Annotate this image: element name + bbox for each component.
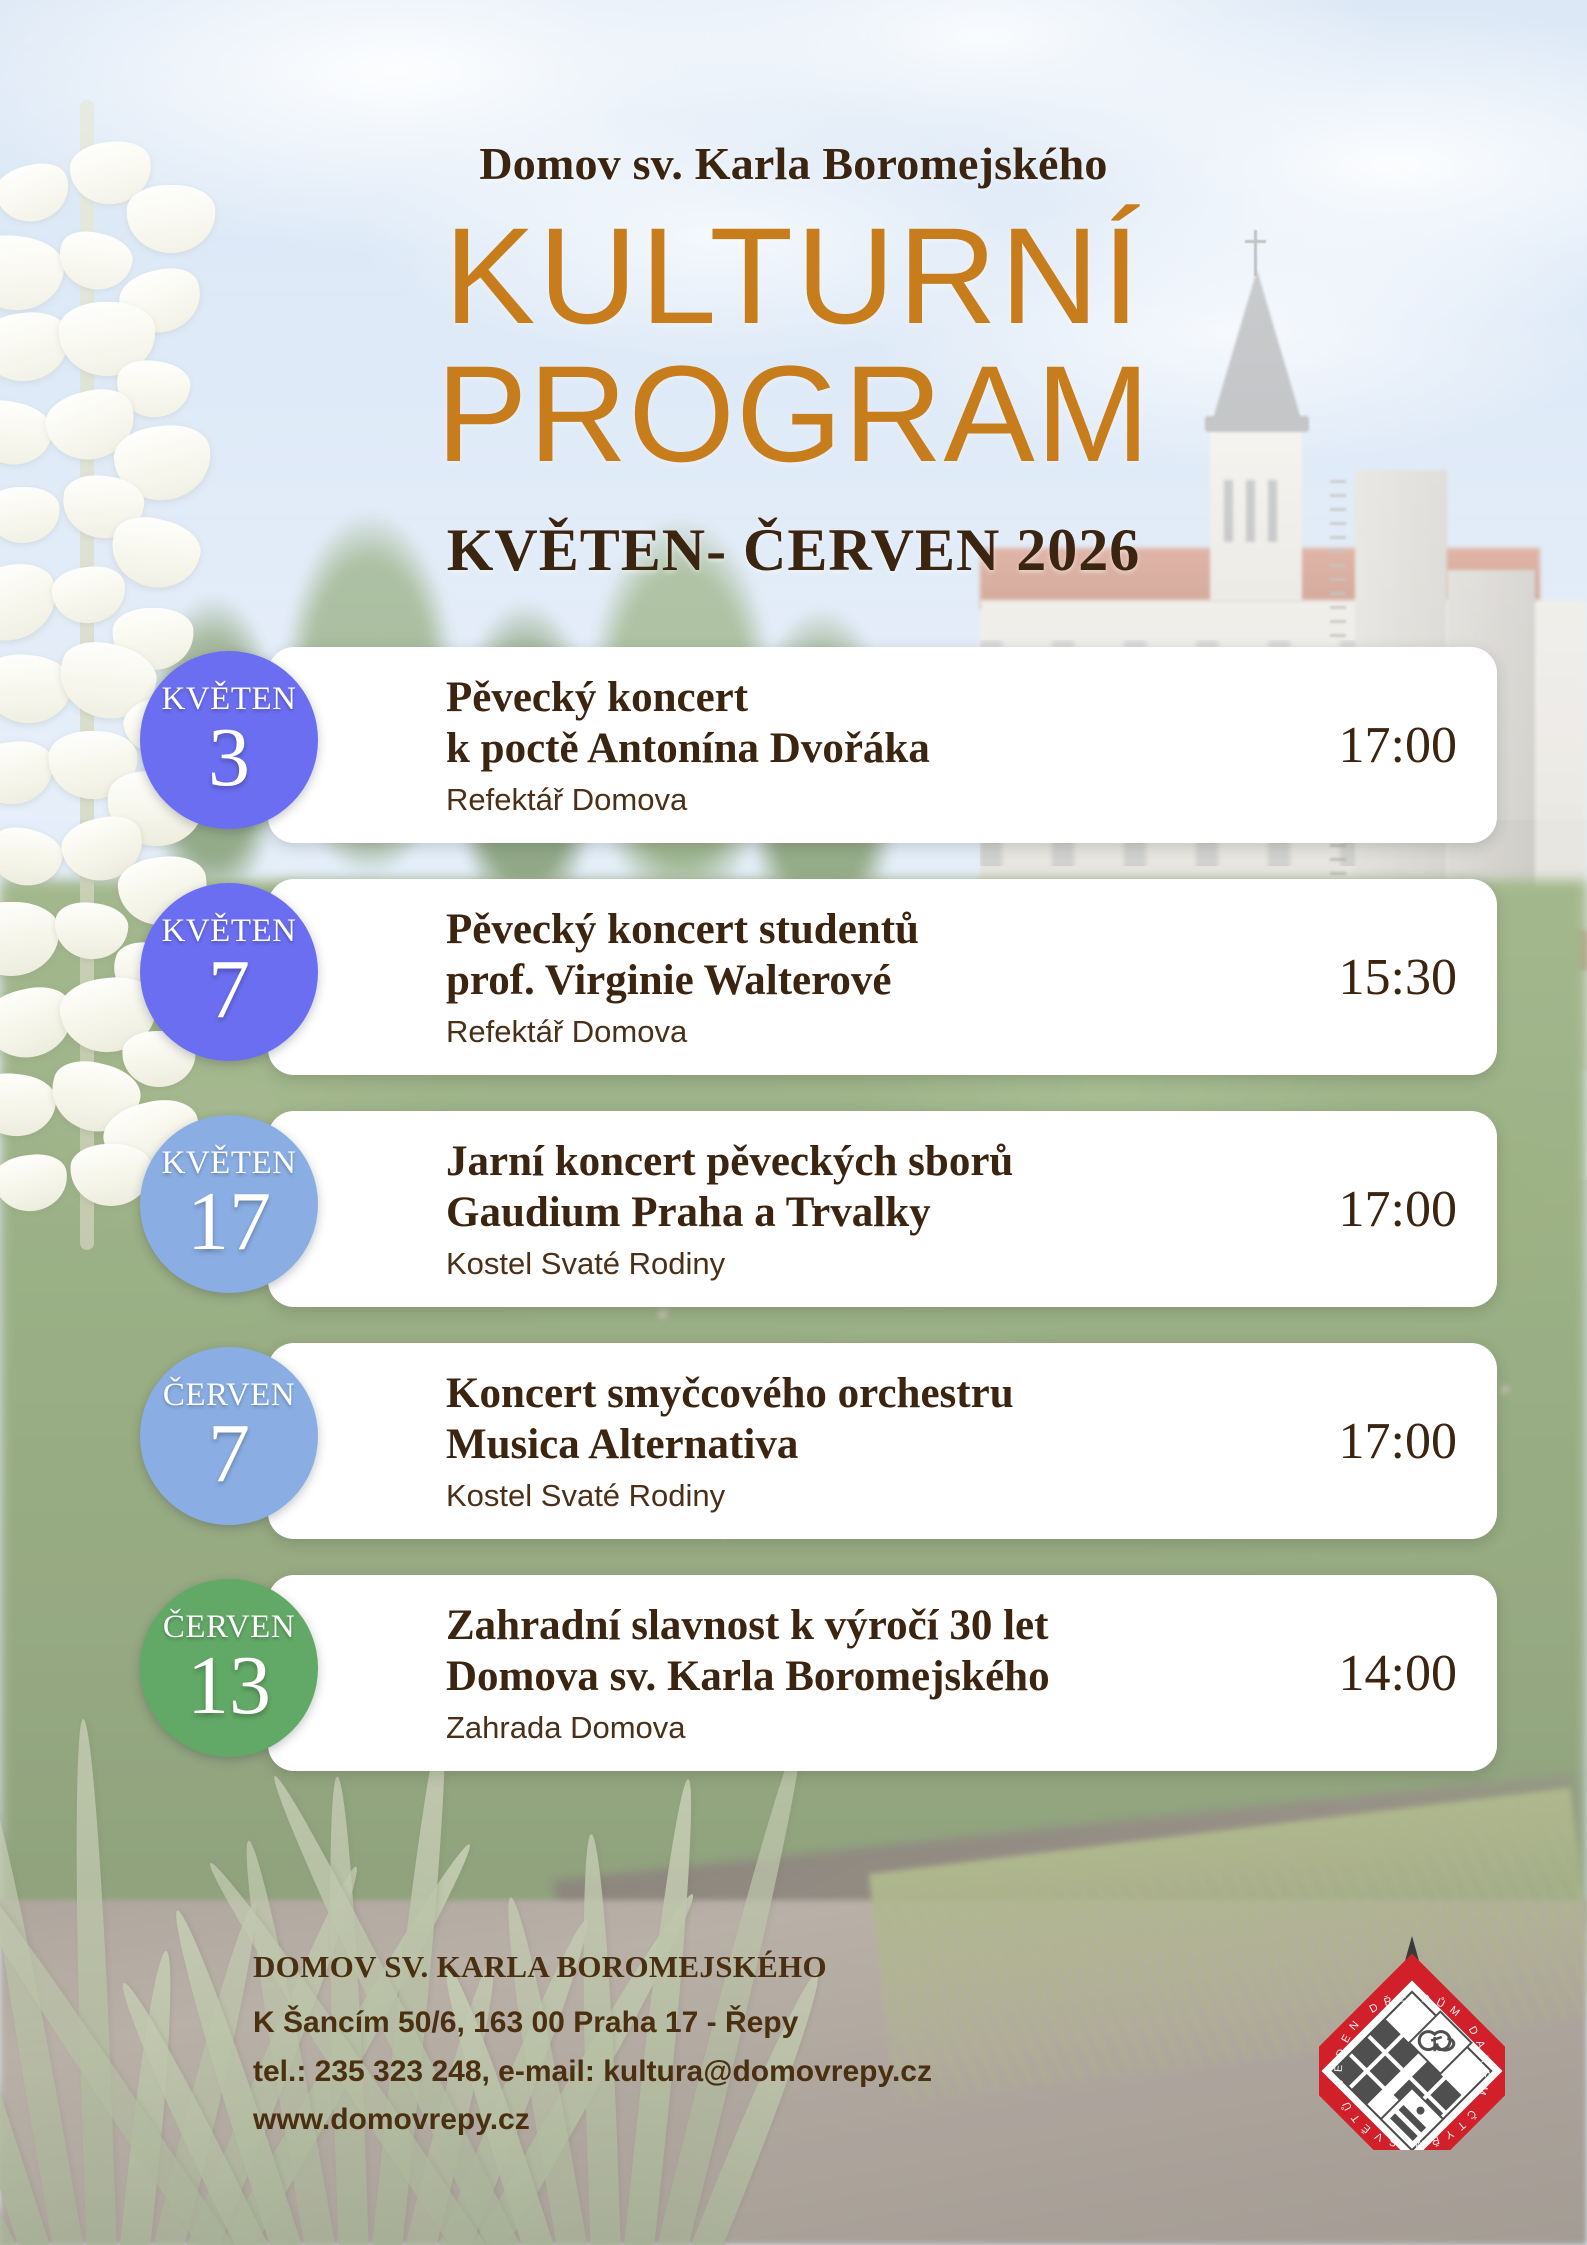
event-badge-day: 13 <box>187 1646 271 1726</box>
event-row[interactable]: Zahradní slavnost k výročí 30 letDomova … <box>140 1575 1497 1775</box>
event-time: 15:30 <box>1339 948 1457 1007</box>
event-card[interactable]: Zahradní slavnost k výročí 30 letDomova … <box>268 1575 1497 1771</box>
event-venue: Kostel Svaté Rodiny <box>446 1246 1321 1282</box>
poster: Domov sv. Karla Boromejského KULTURNÍ PR… <box>0 0 1587 2245</box>
event-time: 14:00 <box>1339 1644 1457 1703</box>
event-time: 17:00 <box>1339 1412 1457 1471</box>
organization-name: Domov sv. Karla Boromejského <box>0 0 1587 190</box>
event-title-line-1: Jarní koncert pěveckých sborů <box>446 1137 1321 1188</box>
event-title-line-2: prof. Virginie Walterové <box>446 956 1321 1007</box>
date-range: KVĚTEN- ČERVEN 2026 <box>0 516 1587 585</box>
event-date-badge[interactable]: KVĚTEN3 <box>140 651 318 829</box>
organization-logo: DŮM DAREM ČTYŘM SVĚTŮ JEDEN DŘEHEM <box>1319 1934 1505 2150</box>
event-row[interactable]: Jarní koncert pěveckých sborůGaudium Pra… <box>140 1111 1497 1311</box>
event-time: 17:00 <box>1339 716 1457 775</box>
footer-contact: tel.: 235 323 248, e-mail: kultura@domov… <box>253 2048 932 2097</box>
event-card[interactable]: Koncert smyčcového orchestruMusica Alter… <box>268 1343 1497 1539</box>
event-time: 17:00 <box>1339 1180 1457 1239</box>
footer-address: K Šancím 50/6, 163 00 Praha 17 - Řepy <box>253 1999 932 2048</box>
event-date-badge[interactable]: KVĚTEN17 <box>140 1115 318 1293</box>
event-venue: Kostel Svaté Rodiny <box>446 1478 1321 1514</box>
event-row[interactable]: Koncert smyčcového orchestruMusica Alter… <box>140 1343 1497 1543</box>
page-title: KULTURNÍ PROGRAM <box>0 212 1587 480</box>
title-line-2: PROGRAM <box>0 350 1587 480</box>
event-card[interactable]: Pěvecký koncert studentůprof. Virginie W… <box>268 879 1497 1075</box>
event-venue: Refektář Domova <box>446 782 1321 818</box>
event-title-line-1: Pěvecký koncert studentů <box>446 905 1321 956</box>
event-texts: Zahradní slavnost k výročí 30 letDomova … <box>446 1601 1321 1745</box>
event-row[interactable]: Pěvecký koncert studentůprof. Virginie W… <box>140 879 1497 1079</box>
event-texts: Pěvecký koncertk poctě Antonína DvořákaR… <box>446 673 1321 817</box>
footer: DOMOV SV. KARLA BOROMEJSKÉHO K Šancím 50… <box>253 1949 932 2145</box>
event-list: Pěvecký koncertk poctě Antonína DvořákaR… <box>0 647 1587 1775</box>
event-title-line-1: Zahradní slavnost k výročí 30 let <box>446 1601 1321 1652</box>
event-date-badge[interactable]: ČERVEN13 <box>140 1579 318 1757</box>
event-badge-day: 17 <box>187 1182 271 1262</box>
event-title-line-1: Koncert smyčcového orchestru <box>446 1369 1321 1420</box>
event-badge-day: 7 <box>208 1414 250 1494</box>
event-venue: Refektář Domova <box>446 1014 1321 1050</box>
event-date-badge[interactable]: ČERVEN7 <box>140 1347 318 1525</box>
event-date-badge[interactable]: KVĚTEN7 <box>140 883 318 1061</box>
footer-organization: DOMOV SV. KARLA BOROMEJSKÉHO <box>253 1949 932 1985</box>
event-texts: Pěvecký koncert studentůprof. Virginie W… <box>446 905 1321 1049</box>
event-venue: Zahrada Domova <box>446 1710 1321 1746</box>
event-title-line-2: Musica Alternativa <box>446 1420 1321 1471</box>
event-title-line-1: Pěvecký koncert <box>446 673 1321 724</box>
event-row[interactable]: Pěvecký koncertk poctě Antonína DvořákaR… <box>140 647 1497 847</box>
event-texts: Koncert smyčcového orchestruMusica Alter… <box>446 1369 1321 1513</box>
poster-content: Domov sv. Karla Boromejského KULTURNÍ PR… <box>0 0 1587 1775</box>
event-title-line-2: Domova sv. Karla Boromejského <box>446 1652 1321 1703</box>
event-title-line-2: k poctě Antonína Dvořáka <box>446 724 1321 775</box>
event-title-line-2: Gaudium Praha a Trvalky <box>446 1188 1321 1239</box>
event-badge-day: 7 <box>208 950 250 1030</box>
event-card[interactable]: Jarní koncert pěveckých sborůGaudium Pra… <box>268 1111 1497 1307</box>
event-texts: Jarní koncert pěveckých sborůGaudium Pra… <box>446 1137 1321 1281</box>
footer-website[interactable]: www.domovrepy.cz <box>253 2096 932 2145</box>
event-card[interactable]: Pěvecký koncertk poctě Antonína DvořákaR… <box>268 647 1497 843</box>
event-badge-day: 3 <box>208 718 250 798</box>
title-line-1: KULTURNÍ <box>444 200 1143 353</box>
